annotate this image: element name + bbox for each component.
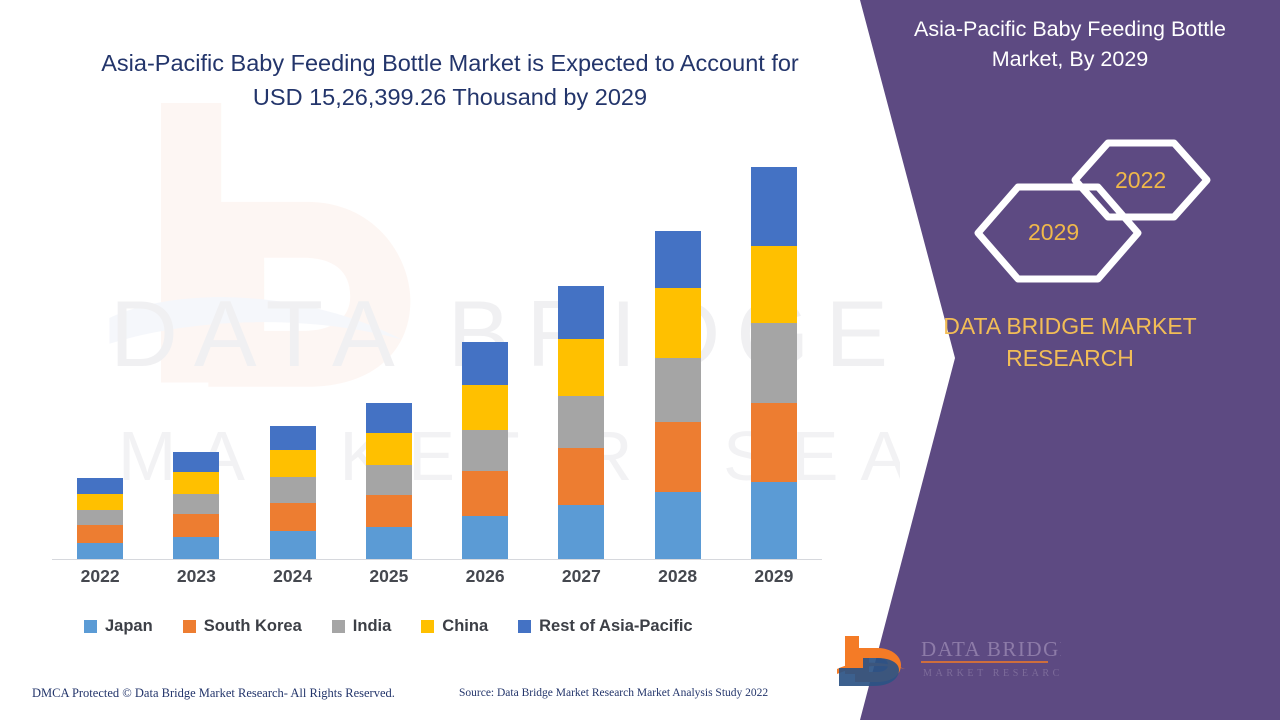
bar-column-2028[interactable] [655,231,701,559]
chart-legend: JapanSouth KoreaIndiaChinaRest of Asia-P… [84,617,693,636]
bar-segment [366,527,412,559]
logo-title: DATA BRIDGE [921,637,1061,661]
bar-column-2027[interactable] [558,286,604,559]
bar-segment [558,286,604,339]
bar-column-2024[interactable] [270,426,316,559]
headline-line1: Asia-Pacific Baby Feeding Bottle Market … [101,50,799,76]
bar-column-2029[interactable] [751,167,797,559]
panel-brand: DATA BRIDGE MARKET RESEARCH [880,310,1260,374]
bar-segment [77,478,123,493]
bar-segment [655,358,701,422]
bar-segment [751,482,797,559]
bar-segment [366,433,412,465]
bar-segment [751,403,797,483]
bar-segment [655,288,701,358]
bar-segment [366,465,412,495]
bar-segment [366,403,412,434]
x-axis-label-2022: 2022 [55,566,145,587]
legend-swatch-icon [84,620,97,633]
legend-label: South Korea [204,617,302,636]
panel-title: Asia-Pacific Baby Feeding Bottle Market,… [880,14,1260,74]
bar-segment [655,422,701,492]
bar-segment [173,494,219,514]
bar-segment [270,503,316,532]
bar-segment [270,477,316,503]
headline-line2: USD 15,26,399.26 Thousand by 2029 [253,84,647,110]
panel-title-line2: Market, By 2029 [992,47,1149,71]
data-bridge-logo-icon: DATA BRIDGE MARKET RESEARCH [833,628,1061,690]
year-hexagons: 2022 2029 [820,135,1280,305]
bar-segment [77,510,123,525]
bar-column-2022[interactable] [77,478,123,559]
chart-plot-area [52,150,822,560]
legend-label: China [442,617,488,636]
x-axis-label-2024: 2024 [248,566,338,587]
legend-item[interactable]: China [421,617,488,636]
footer-copyright: DMCA Protected © Data Bridge Market Rese… [32,686,395,701]
bar-segment [462,342,508,385]
panel-brand-line1: DATA BRIDGE MARKET [943,313,1196,339]
bar-segment [751,167,797,246]
legend-item[interactable]: Rest of Asia-Pacific [518,617,692,636]
bar-segment [77,525,123,542]
hexagon-2022-label: 2022 [1115,167,1166,194]
panel-title-line1: Asia-Pacific Baby Feeding Bottle [914,17,1226,41]
bar-segment [173,472,219,493]
legend-label: Japan [105,617,153,636]
logo-subtitle: MARKET RESEARCH [923,668,1061,679]
bar-segment [462,471,508,516]
hexagon-2029-label: 2029 [1028,219,1079,246]
x-axis-label-2025: 2025 [344,566,434,587]
legend-item[interactable]: Japan [84,617,153,636]
bar-segment [270,426,316,450]
bar-segment [77,543,123,559]
panel-brand-line2: RESEARCH [1006,345,1134,371]
bar-segment [558,339,604,396]
side-panel: Asia-Pacific Baby Feeding Bottle Market,… [820,0,1280,720]
bar-segment [655,231,701,288]
bar-segment [462,516,508,559]
legend-item[interactable]: South Korea [183,617,302,636]
stacked-bar-chart [52,150,822,562]
bar-segment [173,537,219,559]
legend-swatch-icon [332,620,345,633]
bar-column-2025[interactable] [366,403,412,559]
chart-x-axis: 20222023202420252026202720282029 [52,566,822,596]
legend-swatch-icon [421,620,434,633]
bar-segment [270,450,316,478]
bar-column-2026[interactable] [462,342,508,559]
bar-segment [655,492,701,559]
bar-segment [751,323,797,403]
x-axis-label-2029: 2029 [729,566,819,587]
x-axis-label-2028: 2028 [633,566,723,587]
x-axis-label-2026: 2026 [440,566,530,587]
bar-segment [558,396,604,447]
x-axis-label-2023: 2023 [151,566,241,587]
bar-segment [462,430,508,471]
bar-segment [270,531,316,559]
bar-segment [751,246,797,323]
bar-segment [173,452,219,472]
bar-segment [462,385,508,430]
bar-column-2023[interactable] [173,452,219,559]
bar-segment [558,505,604,559]
legend-label: India [353,617,392,636]
page-title: Asia-Pacific Baby Feeding Bottle Market … [40,46,860,114]
legend-swatch-icon [183,620,196,633]
footer-source: Source: Data Bridge Market Research Mark… [459,687,768,699]
legend-label: Rest of Asia-Pacific [539,617,692,636]
legend-swatch-icon [518,620,531,633]
bar-segment [77,494,123,510]
x-axis-label-2027: 2027 [536,566,626,587]
infographic-root: DATA BRIDGE MARKET RESEARCH Asia-Pacific… [0,0,1280,720]
bar-segment [558,448,604,505]
bar-segment [173,514,219,536]
legend-item[interactable]: India [332,617,392,636]
bar-segment [366,495,412,528]
